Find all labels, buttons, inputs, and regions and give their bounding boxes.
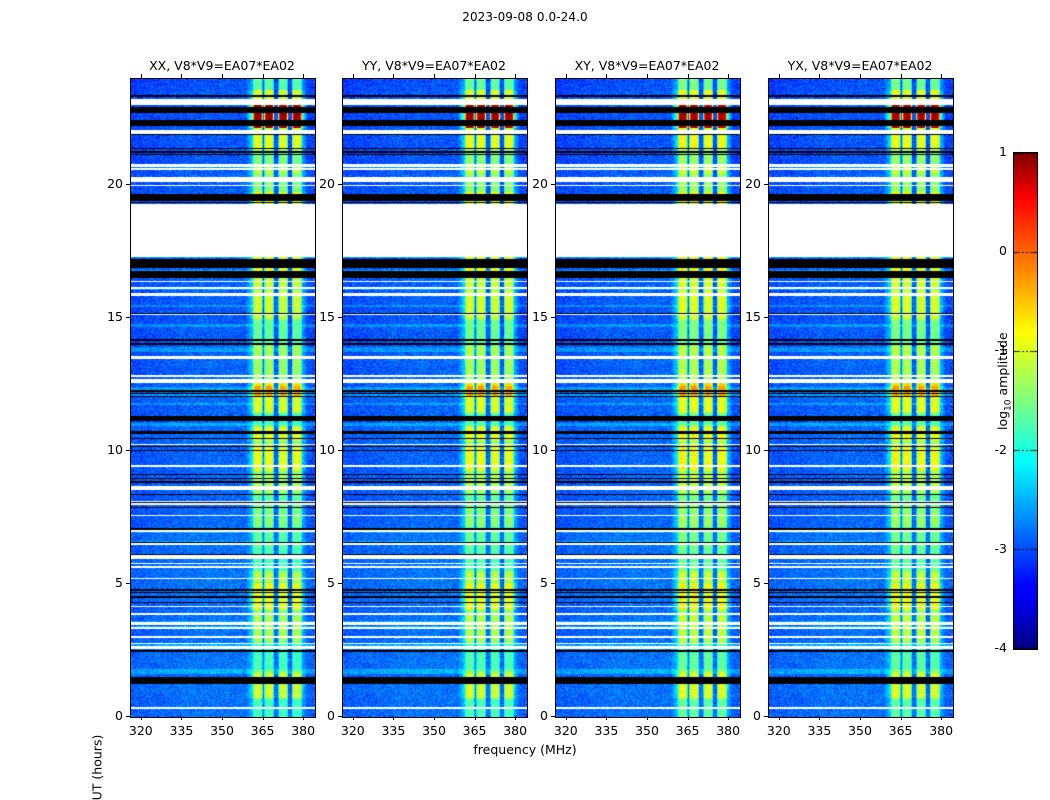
x-tickmark-top: [181, 74, 182, 78]
x-tickmark: [475, 716, 476, 720]
colorbar-tick-neg4: -4: [981, 640, 1007, 655]
y-tickmark: [126, 184, 130, 185]
x-tickmark: [434, 716, 435, 720]
x-tickmark: [393, 716, 394, 720]
x-tick-label-xx-365: 365: [243, 723, 283, 738]
y-tickmark: [338, 583, 342, 584]
x-tick-label-yy-365: 365: [455, 723, 495, 738]
y-tick-label-xx-0: 0: [99, 708, 123, 723]
y-tickmark: [338, 716, 342, 717]
x-tick-label-yx-365: 365: [881, 723, 921, 738]
x-tickmark-top: [819, 74, 820, 78]
waterfall-image: [556, 79, 740, 717]
y-tick-label-yx-0: 0: [737, 708, 761, 723]
y-axis-label: UT (hours): [89, 735, 104, 800]
colorbar[interactable]: [1013, 152, 1038, 650]
x-tick-label-xy-380: 380: [708, 723, 748, 738]
figure-suptitle: 2023-09-08 0.0-24.0: [0, 10, 1050, 24]
x-tickmark: [263, 716, 264, 720]
y-tick-label-yy-15: 15: [311, 309, 335, 324]
x-tickmark-top: [688, 74, 689, 78]
y-tick-label-yy-20: 20: [311, 176, 335, 191]
x-tickmark-top: [475, 74, 476, 78]
y-tick-label-yx-5: 5: [737, 575, 761, 590]
y-tickmark: [338, 184, 342, 185]
x-tickmark-top: [901, 74, 902, 78]
x-tickmark: [222, 716, 223, 720]
x-tick-label-xy-350: 350: [627, 723, 667, 738]
x-tickmark-top: [647, 74, 648, 78]
x-tickmark-top: [393, 74, 394, 78]
waterfall-panel-yy[interactable]: [342, 78, 528, 718]
x-tickmark-top: [941, 74, 942, 78]
y-tickmark: [764, 716, 768, 717]
y-tickmark: [126, 716, 130, 717]
x-tickmark: [688, 716, 689, 720]
x-tick-label-xx-350: 350: [202, 723, 242, 738]
x-tickmark-top: [728, 74, 729, 78]
x-tickmark-top: [779, 74, 780, 78]
x-tick-label-yx-335: 335: [799, 723, 839, 738]
x-tickmark: [860, 716, 861, 720]
waterfall-image: [769, 79, 953, 717]
panel-title-xy: XY, V8*V9=EA07*EA02: [555, 58, 739, 73]
figure-canvas: 2023-09-08 0.0-24.0 XX, V8*V9=EA07*EA02 …: [0, 0, 1050, 800]
waterfall-panel-yx[interactable]: [768, 78, 954, 718]
y-tick-label-yy-5: 5: [311, 575, 335, 590]
y-tickmark: [551, 317, 555, 318]
x-tickmark: [941, 716, 942, 720]
waterfall-panel-xy[interactable]: [555, 78, 741, 718]
y-tick-label-xy-0: 0: [524, 708, 548, 723]
y-tick-label-xy-20: 20: [524, 176, 548, 191]
x-tickmark-top: [566, 74, 567, 78]
waterfall-image: [343, 79, 527, 717]
x-tickmark: [181, 716, 182, 720]
colorbar-tick-0: 0: [981, 243, 1007, 258]
y-tickmark: [764, 317, 768, 318]
x-tickmark-top: [606, 74, 607, 78]
y-tick-label-yx-10: 10: [737, 442, 761, 457]
x-tick-label-yx-380: 380: [921, 723, 961, 738]
x-tickmark: [728, 716, 729, 720]
panel-title-yx: YX, V8*V9=EA07*EA02: [768, 58, 952, 73]
y-tickmark: [126, 583, 130, 584]
x-axis-label: frequency (MHz): [0, 742, 1050, 757]
x-tickmark: [353, 716, 354, 720]
y-tick-label-yx-15: 15: [737, 309, 761, 324]
panel-title-xx: XX, V8*V9=EA07*EA02: [130, 58, 314, 73]
y-tickmark: [338, 450, 342, 451]
y-tickmark: [338, 317, 342, 318]
x-tick-label-xy-335: 335: [586, 723, 626, 738]
x-tick-label-xx-320: 320: [121, 723, 161, 738]
x-tick-label-xy-365: 365: [668, 723, 708, 738]
x-tick-label-xx-335: 335: [161, 723, 201, 738]
x-tick-label-yy-350: 350: [414, 723, 454, 738]
x-tickmark: [515, 716, 516, 720]
y-tick-label-xx-20: 20: [99, 176, 123, 191]
y-tick-label-xx-15: 15: [99, 309, 123, 324]
x-tickmark: [647, 716, 648, 720]
y-tickmark: [764, 184, 768, 185]
x-tickmark: [779, 716, 780, 720]
y-tick-label-xx-5: 5: [99, 575, 123, 590]
colorbar-tick-1: 1: [981, 144, 1007, 159]
y-tick-label-xy-5: 5: [524, 575, 548, 590]
y-tick-label-yx-20: 20: [737, 176, 761, 191]
x-tickmark: [901, 716, 902, 720]
x-tickmark-top: [860, 74, 861, 78]
x-tickmark-top: [434, 74, 435, 78]
x-tick-label-xx-380: 380: [283, 723, 323, 738]
y-tick-label-yy-10: 10: [311, 442, 335, 457]
x-tick-label-yx-320: 320: [759, 723, 799, 738]
y-tickmark: [764, 450, 768, 451]
y-tick-label-xy-10: 10: [524, 442, 548, 457]
x-tick-label-yy-320: 320: [333, 723, 373, 738]
y-tick-label-xy-15: 15: [524, 309, 548, 324]
colorbar-tick-neg1: -1: [981, 342, 1007, 357]
colorbar-label-base: log: [995, 411, 1010, 430]
panel-title-yy: YY, V8*V9=EA07*EA02: [342, 58, 526, 73]
x-tickmark-top: [141, 74, 142, 78]
x-tickmark: [606, 716, 607, 720]
x-tickmark-top: [353, 74, 354, 78]
y-tickmark: [126, 317, 130, 318]
y-tickmark: [551, 716, 555, 717]
waterfall-panel-xx[interactable]: [130, 78, 316, 718]
y-tickmark: [551, 184, 555, 185]
y-tick-label-yy-0: 0: [311, 708, 335, 723]
x-tickmark-top: [263, 74, 264, 78]
x-tick-label-yy-380: 380: [495, 723, 535, 738]
y-tick-label-xx-10: 10: [99, 442, 123, 457]
y-tickmark: [551, 450, 555, 451]
x-tickmark-top: [222, 74, 223, 78]
x-tickmark: [141, 716, 142, 720]
colorbar-tick-neg2: -2: [981, 442, 1007, 457]
x-tickmark: [819, 716, 820, 720]
colorbar-tick-neg3: -3: [981, 541, 1007, 556]
x-tick-label-xy-320: 320: [546, 723, 586, 738]
x-tickmark: [303, 716, 304, 720]
x-tickmark: [566, 716, 567, 720]
x-tick-label-yx-350: 350: [840, 723, 880, 738]
x-tickmark-top: [303, 74, 304, 78]
y-tickmark: [551, 583, 555, 584]
y-tickmark: [764, 583, 768, 584]
waterfall-image: [131, 79, 315, 717]
x-tick-label-yy-335: 335: [373, 723, 413, 738]
x-tickmark-top: [515, 74, 516, 78]
y-tickmark: [126, 450, 130, 451]
colorbar-label-subscript: 10: [1004, 399, 1014, 410]
